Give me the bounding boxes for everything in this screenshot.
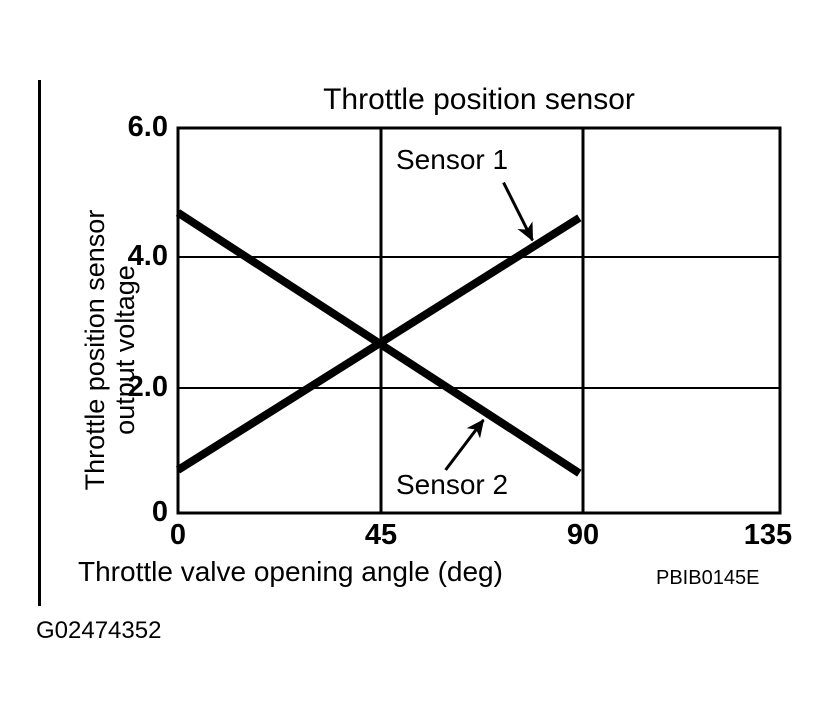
series-label-sensor-2: Sensor 2 <box>396 470 508 500</box>
document-code: G02474352 <box>36 618 161 644</box>
sensor-1-annotation-arrow <box>504 183 533 241</box>
plot-area <box>0 0 824 720</box>
throttle-position-sensor-figure: Throttle position sensor Throttle positi… <box>0 0 824 720</box>
series-lines <box>178 213 579 474</box>
plot-frame <box>178 128 780 513</box>
plot-border <box>178 128 780 513</box>
sensor-2-annotation-arrow <box>446 420 484 470</box>
series-label-sensor-1: Sensor 1 <box>396 145 508 175</box>
figure-code: PBIB0145E <box>656 567 759 589</box>
